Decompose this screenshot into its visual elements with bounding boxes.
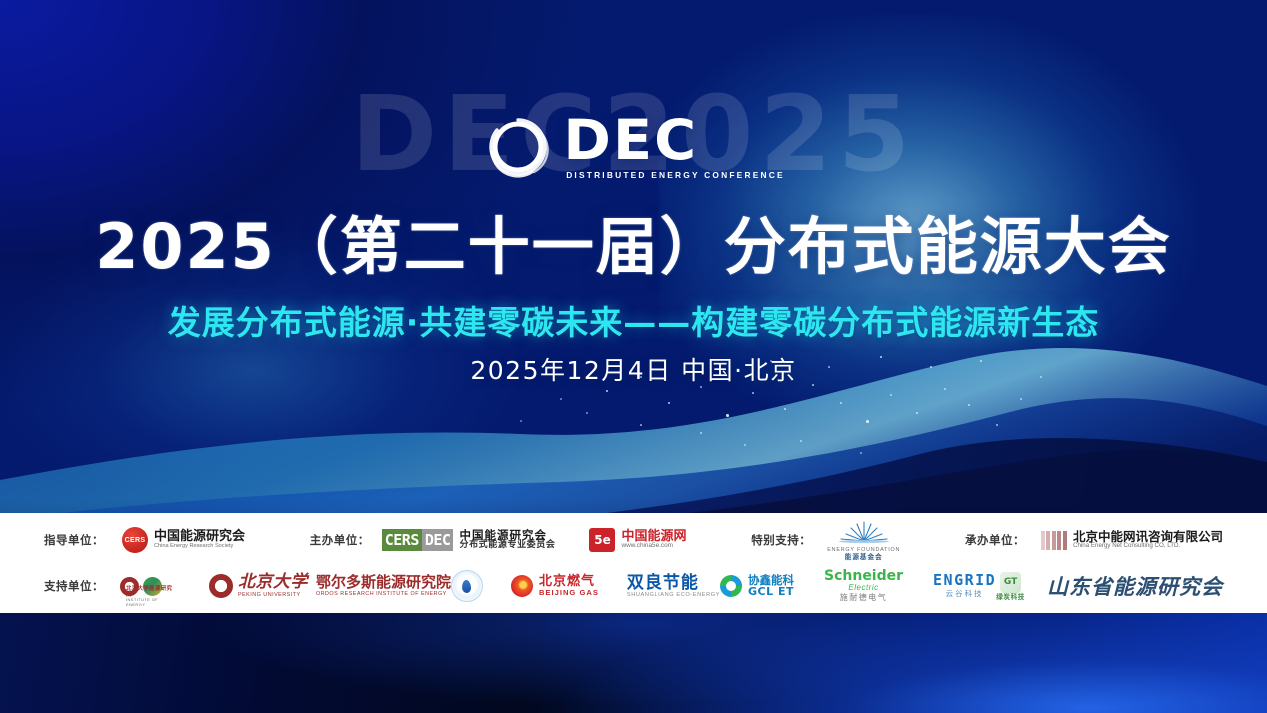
gcl-name-en: GCL ET (748, 586, 794, 598)
schneider-name-en: Schneider (824, 569, 903, 583)
conference-poster: DEC2025 DEC DISTRIBUTED ENERGY CONFERENC… (0, 0, 1267, 713)
engrid-name-en: ENGRID (933, 573, 996, 588)
logo-schneider-electric: Schneider Electric 施耐德电气 (824, 569, 903, 603)
shuangliang-name-en: SHUANGLIANG ECO-ENERGY (627, 592, 720, 598)
green-carbon-mark-text: GT (1004, 577, 1017, 587)
label-special-support: 特别支持： (751, 532, 811, 548)
cersdec-b-text: DEC (422, 529, 454, 551)
logo-china-energy-net-consulting: 北京中能网讯咨询有限公司 China Energy Net Consulting… (1041, 530, 1223, 550)
green-carbon-leaf-icon: GT (1000, 572, 1021, 593)
energy-foundation-starburst-icon (837, 519, 891, 547)
gcl-icon (720, 575, 742, 597)
logo-engrid: ENGRID 云谷科技 (933, 573, 996, 599)
bars-icon (1041, 531, 1067, 550)
sponsor-bar: 指导单位： CERS 中国能源研究会 China Energy Research… (0, 513, 1267, 613)
logo-energy-foundation: ENERGY FOUNDATION 能源基金会 (827, 519, 900, 561)
logo-cers-dec-committee: CERS DEC 中国能源研究会 分布式能源专业委员会 (382, 529, 556, 551)
page-subtitle: 发展分布式能源·共建零碳未来——构建零碳分布式能源新生态 (0, 296, 1267, 344)
event-date-location: 2025年12月4日 中国·北京 (0, 351, 1267, 387)
schneider-name-cn: 施耐德电气 (840, 592, 888, 603)
cenc-name-en: China Energy Net Consulting CO, LTD. (1073, 543, 1223, 550)
china5e-name-cn: 中国能源网 (621, 530, 686, 544)
label-support-unit: 支持单位： (44, 578, 104, 594)
china5e-url: www.china5e.com (621, 543, 686, 550)
ordos-name-cn: 鄂尔多斯能源研究院 (316, 575, 451, 591)
ordos-name-en: ORDOS RESEARCH INSTITUTE OF ENERGY (316, 591, 451, 597)
energy-foundation-name-cn: 能源基金会 (845, 554, 883, 561)
bottom-blue-band (0, 613, 1267, 713)
blue-flame-circle-icon (451, 570, 483, 602)
pku-ordos-icon (209, 574, 233, 598)
engrid-name-cn: 云谷科技 (946, 588, 984, 599)
shuangliang-name-cn: 双良节能 (627, 575, 720, 592)
label-organizer-unit: 承办单位： (965, 532, 1025, 548)
logo-gcl-et: 协鑫能科 GCL ET (720, 574, 794, 598)
pku-name-cn: 北京大学 (238, 574, 308, 592)
logo-china-energy-research-society: CERS 中国能源研究会 China Energy Research Socie… (122, 527, 245, 553)
green-carbon-name-cn: 绿炭科技 (996, 594, 1025, 601)
logo-shandong-energy-society: 山东省能源研究会 (1047, 571, 1223, 601)
pku-name-en: PEKING UNIVERSITY (238, 592, 308, 598)
cers-seal-icon: CERS (122, 527, 148, 553)
beijing-gas-name-cn: 北京燃气 (539, 575, 599, 589)
logo-wordmark: DEC (564, 114, 699, 166)
cers-dec-block-icon: CERS DEC (382, 529, 454, 551)
orbit-rings-icon (482, 112, 552, 182)
cersdec-a-text: CERS (382, 529, 422, 551)
china5e-mark-text: 5e (594, 533, 611, 547)
cers-name-en: China Energy Research Society (154, 544, 245, 550)
cers-name-cn: 中国能源研究会 (154, 530, 245, 544)
logo-shuangliang: 双良节能 SHUANGLIANG ECO-ENERGY (627, 575, 720, 598)
page-title: 2025（第二十一届）分布式能源大会 (0, 196, 1267, 286)
cersdec-name-cn2: 分布式能源专业委员会 (459, 541, 555, 550)
pku-ioe-name-en: INSTITUTE OF ENERGY (126, 598, 173, 606)
sponsor-row-primary: 指导单位： CERS 中国能源研究会 China Energy Research… (0, 517, 1267, 563)
cers-seal-text: CERS (125, 537, 146, 544)
logo-beijing-gas: 北京燃气 BEIJING GAS (511, 575, 599, 597)
china5e-icon: 5e (589, 528, 615, 552)
shandong-script-icon: 山东省能源研究会 (1047, 571, 1223, 601)
logo-china5e: 5e 中国能源网 www.china5e.com (589, 528, 686, 552)
schneider-name-en2: Electric (848, 583, 878, 592)
label-guidance-unit: 指导单位： (44, 532, 104, 548)
beijing-gas-name-en: BEIJING GAS (539, 589, 599, 597)
beijing-gas-icon (511, 575, 533, 597)
logo-blue-flame-company (451, 570, 483, 602)
sponsor-row-supporting: 支持单位： 北京大学能源研究院 INSTITUTE OF ENERGY 北京大学… (0, 563, 1267, 609)
logo-green-carbon-tech: GT 绿炭科技 (996, 572, 1025, 601)
label-host-unit: 主办单位： (310, 532, 370, 548)
dec-logo: DEC DISTRIBUTED ENERGY CONFERENCE (0, 112, 1267, 182)
logo-pku-ordos-institute: 北京大学 PEKING UNIVERSITY 鄂尔多斯能源研究院 ORDOS R… (209, 574, 451, 598)
